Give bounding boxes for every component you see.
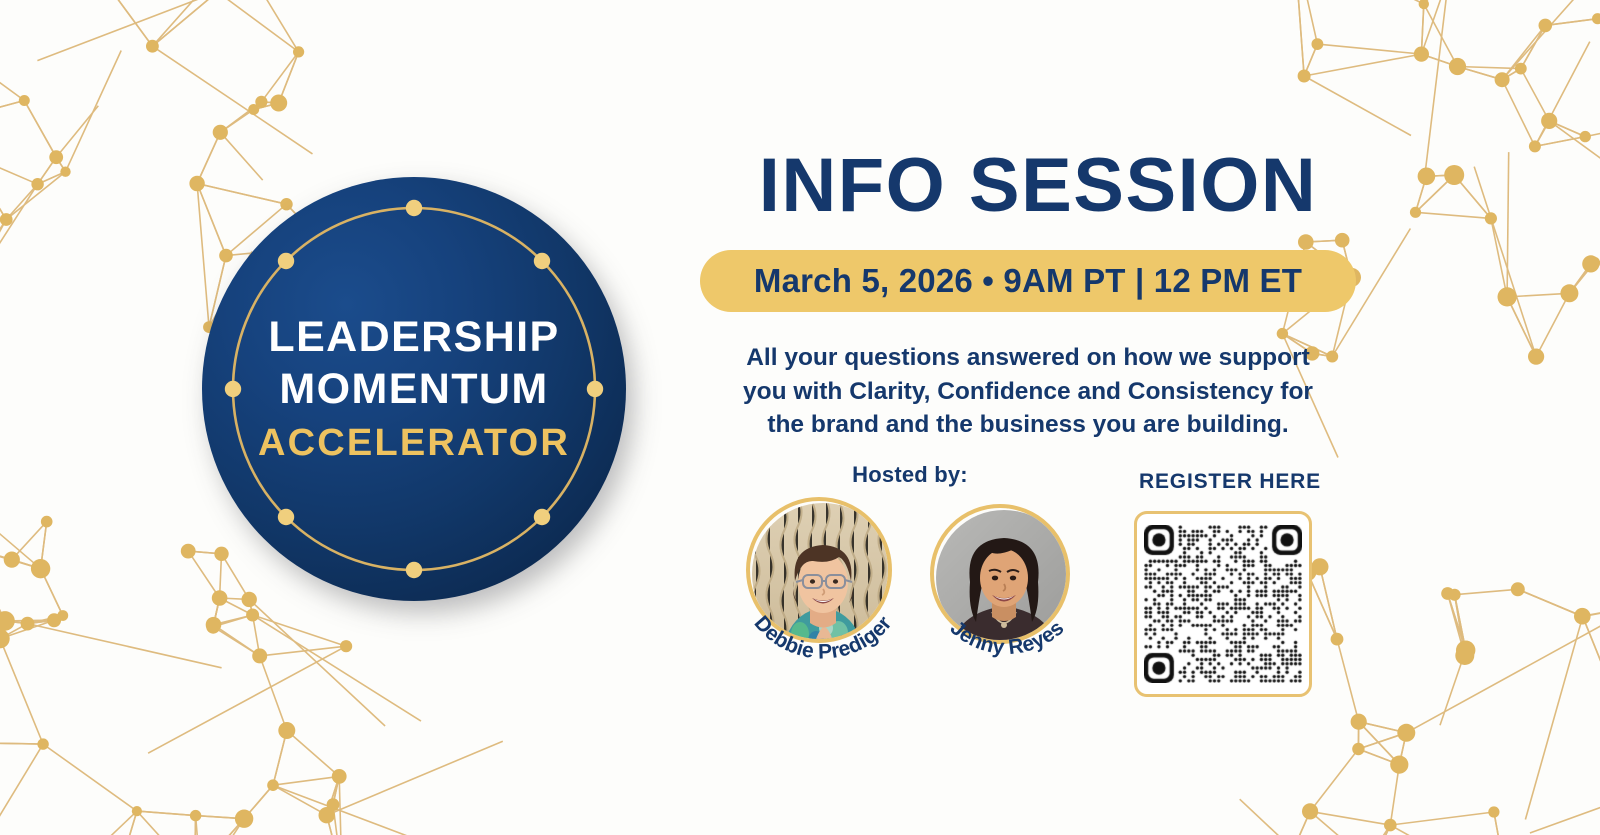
host-name-arc: Debbie Prediger	[728, 557, 918, 687]
brand-badge: LEADERSHIP MOMENTUM ACCELERATOR	[196, 173, 648, 625]
host-name-debbie-prediger: Debbie Prediger	[750, 612, 897, 664]
svg-text:Debbie Prediger: Debbie Prediger	[750, 612, 897, 664]
page-title: INFO SESSION	[718, 148, 1358, 224]
badge-line-accelerator: ACCELERATOR	[258, 424, 570, 462]
register-section[interactable]: REGISTER HERE	[1115, 470, 1345, 494]
host-card-debbie-prediger: Debbie Prediger	[746, 497, 898, 692]
poster-canvas: LEADERSHIP MOMENTUM ACCELERATOR INFO SES…	[0, 0, 1600, 835]
badge-text-block: LEADERSHIP MOMENTUM ACCELERATOR	[202, 177, 626, 601]
badge-line-leadership: LEADERSHIP	[268, 316, 559, 359]
date-time-text: March 5, 2026 • 9AM PT | 12 PM ET	[754, 262, 1302, 300]
qr-code[interactable]	[1134, 511, 1312, 697]
host-name-jenny-reyes: Jenny Reyes	[946, 616, 1069, 659]
description-text: All your questions answered on how we su…	[718, 341, 1338, 442]
date-time-banner: March 5, 2026 • 9AM PT | 12 PM ET	[700, 250, 1356, 312]
description-line-3: the brand and the business you are build…	[718, 408, 1338, 442]
host-name-arc: Jenny Reyes	[912, 564, 1102, 694]
content-column: INFO SESSION March 5, 2026 • 9AM PT | 12…	[700, 0, 1400, 835]
hosted-by-label: Hosted by:	[780, 462, 1040, 488]
description-line-1: All your questions answered on how we su…	[718, 341, 1338, 375]
register-here-label: REGISTER HERE	[1130, 470, 1330, 494]
hosts-section: Hosted by:	[720, 462, 1120, 488]
description-line-2: you with Clarity, Confidence and Consist…	[718, 375, 1338, 409]
badge-line-momentum: MOMENTUM	[279, 368, 548, 411]
svg-text:Jenny Reyes: Jenny Reyes	[946, 616, 1069, 659]
host-card-jenny-reyes: Jenny Reyes	[930, 504, 1082, 699]
